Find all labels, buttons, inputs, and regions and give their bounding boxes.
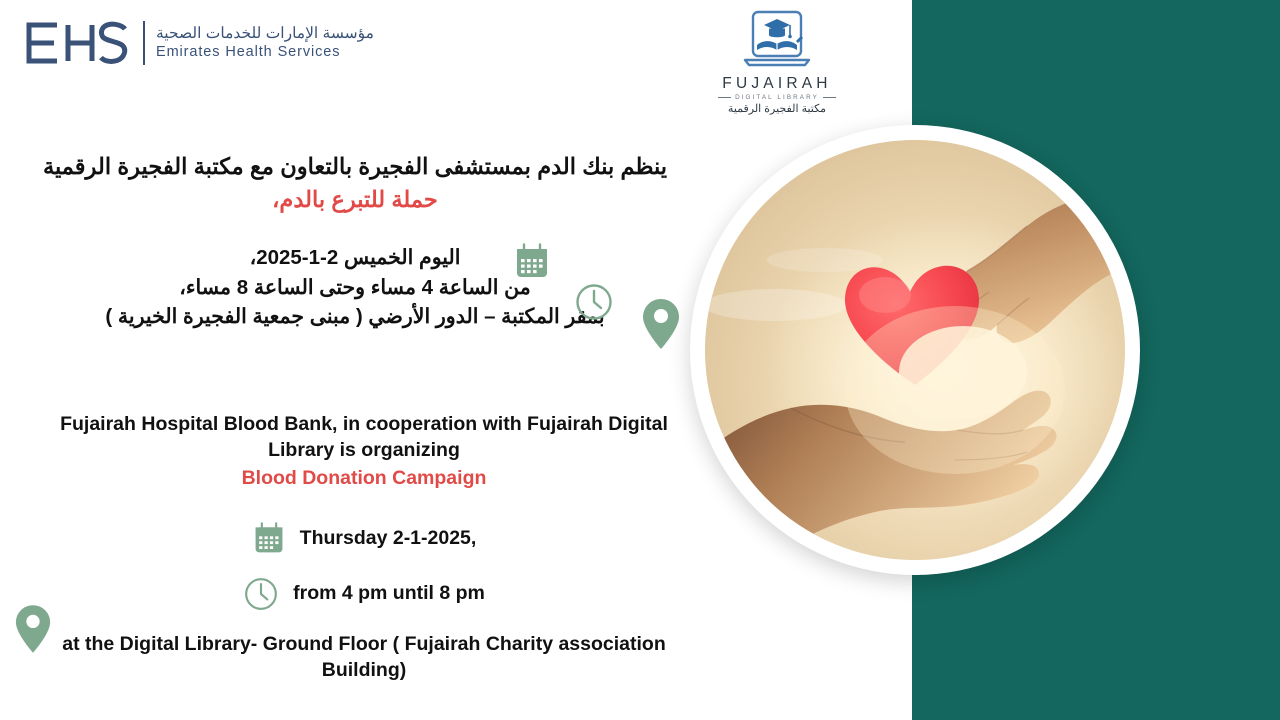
ehs-arabic-name: مؤسسة الإمارات للخدمات الصحية [156, 26, 374, 42]
fujairah-logo-arabic-name: مكتبة الفجيرة الرقمية [728, 104, 826, 115]
calendar-icon [513, 243, 551, 281]
english-campaign-title: Blood Donation Campaign [0, 466, 728, 492]
clock-icon [574, 282, 614, 322]
english-time: from 4 pm until 8 pm [293, 582, 485, 605]
rule-right [823, 97, 836, 98]
fujairah-logo-subtitle: DIGITAL LIBRARY [735, 95, 819, 101]
english-venue: at the Digital Library- Ground Floor ( F… [0, 632, 728, 684]
english-date-row: Thursday 2-1-2025, [0, 522, 728, 556]
arabic-campaign-title: حملة للتبرع بالدم، [0, 185, 710, 215]
calendar-icon [252, 522, 286, 556]
book-laptop-graduation-icon [740, 8, 814, 74]
poster-canvas: مؤسسة الإمارات للخدمات الصحية Emirates H… [0, 0, 1280, 720]
fujairah-logo-name: FUJAIRAH [722, 76, 831, 92]
arabic-date: اليوم الخميس 2-1-2025، [0, 243, 710, 273]
location-pin-icon [14, 604, 52, 654]
ehs-logo: مؤسسة الإمارات للخدمات الصحية Emirates H… [24, 20, 374, 66]
ehs-logo-divider [143, 21, 145, 65]
ehs-logo-words: مؤسسة الإمارات للخدمات الصحية Emirates H… [156, 26, 374, 60]
fujairah-logo: FUJAIRAH DIGITAL LIBRARY مكتبة الفجيرة ا… [716, 8, 838, 115]
fujairah-logo-subtitle-row: DIGITAL LIBRARY [716, 95, 838, 101]
location-pin-icon [641, 298, 681, 350]
english-headline: Fujairah Hospital Blood Bank, in coopera… [0, 412, 728, 464]
rule-left [718, 97, 731, 98]
ehs-logo-mark [24, 20, 132, 66]
english-time-row: from 4 pm until 8 pm [0, 576, 728, 612]
hero-image-circle [690, 125, 1140, 575]
clock-icon [243, 576, 279, 612]
arabic-headline: ينظم بنك الدم بمستشفى الفجيرة بالتعاون م… [0, 152, 710, 182]
english-date: Thursday 2-1-2025, [300, 527, 477, 550]
hands-giving-heart-image [705, 140, 1125, 560]
ehs-english-name: Emirates Health Services [156, 45, 374, 60]
english-content: Fujairah Hospital Blood Bank, in coopera… [0, 412, 728, 684]
